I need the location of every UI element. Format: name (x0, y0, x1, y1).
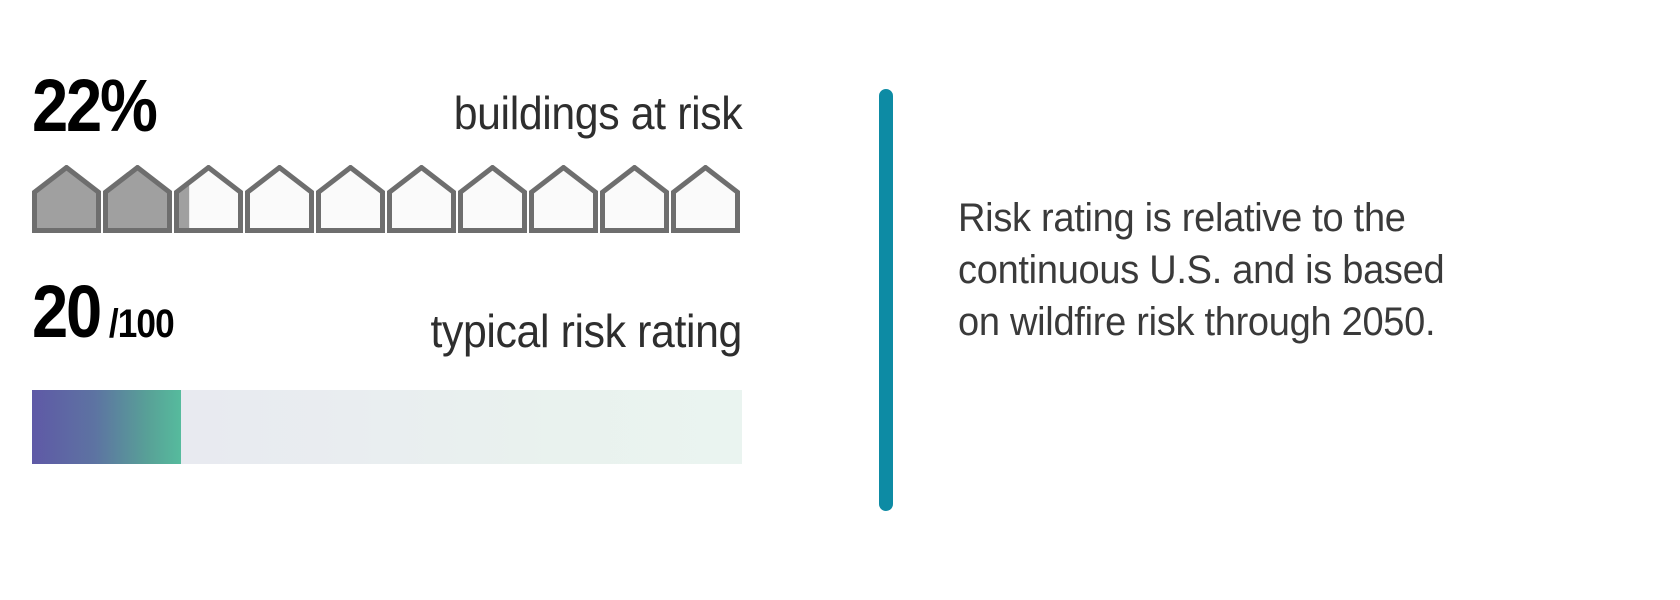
vertical-divider (879, 89, 893, 511)
house-icon (671, 165, 740, 233)
typical-risk-rating-stat: 20/100 typical risk rating (32, 273, 742, 361)
risk-note-line: on wildfire risk through 2050. (958, 296, 1528, 348)
risk-note-line: Risk rating is relative to the (958, 192, 1528, 244)
buildings-at-risk-label: buildings at risk (453, 90, 742, 136)
buildings-at-risk-value: 22% (32, 69, 156, 143)
risk-rating-gradient-bar (32, 390, 742, 464)
house-icon (174, 165, 243, 233)
house-icon (103, 165, 172, 233)
buildings-at-risk-stat: 22% buildings at risk (32, 55, 742, 143)
risk-rating-bar-fill (32, 390, 181, 464)
house-icon (387, 165, 456, 233)
house-icon (32, 165, 101, 233)
house-icon (529, 165, 598, 233)
risk-rating-denominator: /100 (100, 302, 174, 346)
house-pictogram-row (32, 165, 742, 233)
house-icon (600, 165, 669, 233)
risk-rating-value-group: 20/100 (32, 275, 174, 361)
house-icon (316, 165, 385, 233)
typical-risk-rating-label: typical risk rating (430, 308, 742, 354)
risk-note-panel: Risk rating is relative to thecontinuous… (958, 192, 1558, 348)
house-icon (245, 165, 314, 233)
house-icon (458, 165, 527, 233)
risk-metrics-panel: 22% buildings at risk 20/100 typical ris… (32, 55, 742, 475)
risk-note-line: continuous U.S. and is based (958, 244, 1528, 296)
wildfire-risk-widget: 22% buildings at risk 20/100 typical ris… (0, 0, 1680, 600)
risk-rating-value: 20 (32, 270, 100, 353)
